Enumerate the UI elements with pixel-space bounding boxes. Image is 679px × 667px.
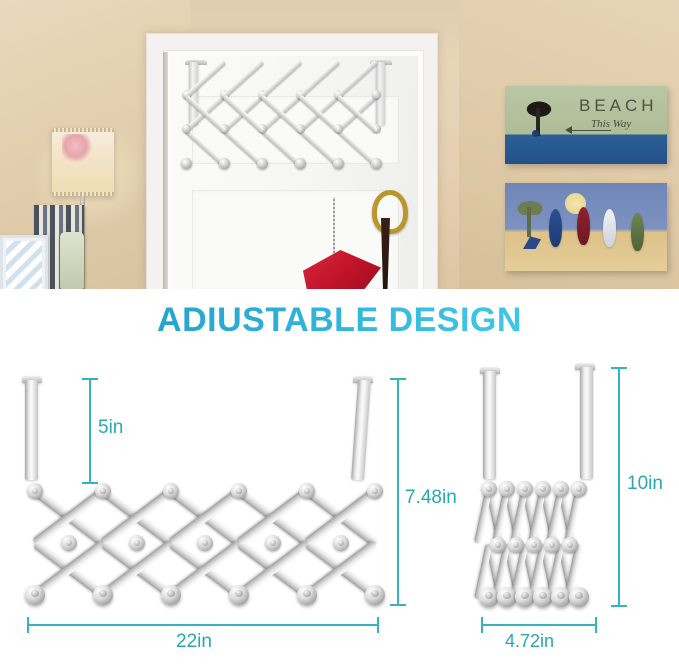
surfboard bbox=[603, 209, 616, 247]
coat-hook bbox=[515, 587, 535, 607]
beach-sign-art: BEACH This Way bbox=[505, 86, 667, 164]
arrow-head-icon bbox=[565, 126, 572, 134]
pivot-joint bbox=[535, 481, 551, 497]
coat-hook bbox=[533, 587, 553, 607]
dim-line-5in bbox=[89, 378, 91, 484]
pivot-joint bbox=[499, 481, 515, 497]
pivot-joint bbox=[526, 537, 542, 553]
pivot-joint bbox=[163, 483, 179, 499]
cordless-phone bbox=[60, 232, 84, 289]
beach-sign-title: BEACH bbox=[579, 96, 658, 116]
surfboard bbox=[577, 207, 590, 245]
photo-hook bbox=[333, 158, 344, 169]
pivot-joint bbox=[553, 481, 569, 497]
pivot-joint bbox=[265, 535, 281, 551]
pivot-joint bbox=[129, 535, 145, 551]
door-hanger-right bbox=[580, 367, 593, 479]
bag-chain-strap bbox=[333, 197, 335, 259]
pivot-joint bbox=[27, 483, 43, 499]
surfboard-beach-art bbox=[505, 183, 667, 271]
arrow-shaft bbox=[567, 130, 611, 131]
photo-accordion-rack bbox=[180, 62, 405, 197]
pivot-joint bbox=[367, 483, 383, 499]
dim-cap-bottom bbox=[611, 605, 627, 607]
dim-line-748in bbox=[397, 378, 399, 606]
photo-hook bbox=[219, 158, 230, 169]
photo-joint bbox=[182, 124, 191, 133]
door-hanger-left bbox=[25, 380, 38, 480]
spec-panel: ADIUSTABLE DESIGN bbox=[0, 289, 679, 667]
coat-hook bbox=[229, 585, 249, 605]
pivot-joint bbox=[61, 535, 77, 551]
collapsed-rack-diagram: 10in 4.72in bbox=[455, 361, 670, 661]
coat-hook bbox=[93, 585, 113, 605]
picture-frame-photo bbox=[6, 241, 42, 289]
dim-line-472in bbox=[481, 624, 597, 626]
coat-hook bbox=[297, 585, 317, 605]
photo-top-joint bbox=[372, 90, 381, 99]
pivot-joint bbox=[299, 483, 315, 499]
expanded-rack-diagram: 5in 7.48in 22in bbox=[8, 361, 408, 661]
dim-line-10in bbox=[618, 367, 620, 607]
lamp-shade bbox=[52, 128, 114, 196]
door-edge bbox=[163, 52, 168, 289]
dim-cap-right bbox=[595, 617, 597, 633]
dim-label-5in: 5in bbox=[98, 417, 123, 439]
dim-cap-bottom bbox=[390, 604, 406, 606]
pivot-joint bbox=[517, 481, 533, 497]
dim-cap-right bbox=[377, 617, 379, 633]
coat-hook bbox=[479, 587, 499, 607]
pivot-joint bbox=[197, 535, 213, 551]
pivot-joint bbox=[333, 535, 349, 551]
door-hanger-left bbox=[483, 371, 496, 479]
surfboard bbox=[631, 213, 644, 251]
coat-hook bbox=[551, 587, 571, 607]
pivot-joint bbox=[571, 481, 587, 497]
pivot-joint bbox=[544, 537, 560, 553]
dim-cap-bottom bbox=[82, 482, 98, 484]
gold-ring-icon bbox=[372, 190, 408, 234]
photo-hook bbox=[181, 158, 192, 169]
dim-label-472in: 4.72in bbox=[505, 631, 554, 652]
lamp-floral-print bbox=[62, 134, 96, 164]
pivot-joint bbox=[490, 537, 506, 553]
coconut bbox=[532, 130, 539, 137]
photo-hook bbox=[371, 158, 382, 169]
photo-hook bbox=[295, 158, 306, 169]
dim-label-748in: 7.48in bbox=[405, 487, 457, 509]
picture-frame bbox=[0, 235, 48, 289]
dim-line-22in bbox=[27, 624, 379, 626]
coat-hook bbox=[161, 585, 181, 605]
page-title: ADIUSTABLE DESIGN bbox=[0, 301, 679, 340]
pivot-joint bbox=[481, 481, 497, 497]
surfboard bbox=[549, 209, 562, 247]
pivot-joint bbox=[231, 483, 247, 499]
pivot-joint bbox=[95, 483, 111, 499]
lifestyle-photo: BEACH This Way bbox=[0, 0, 679, 289]
beach-chair bbox=[523, 235, 541, 249]
door-hanger-right bbox=[351, 380, 371, 481]
coat-hook bbox=[25, 585, 45, 605]
dim-label-10in: 10in bbox=[627, 473, 663, 495]
palm-trunk bbox=[527, 207, 531, 237]
beach-sign-subtitle: This Way bbox=[591, 118, 631, 130]
photo-hook bbox=[257, 158, 268, 169]
coat-hook bbox=[497, 587, 517, 607]
pivot-joint bbox=[562, 537, 578, 553]
coat-hook bbox=[569, 587, 589, 607]
lamp-rim-top bbox=[52, 128, 114, 132]
product-infographic: BEACH This Way ADIUSTABLE DESIGN bbox=[0, 0, 679, 667]
coat-hook bbox=[365, 585, 385, 605]
pivot-joint bbox=[508, 537, 524, 553]
dim-label-22in: 22in bbox=[176, 631, 212, 653]
